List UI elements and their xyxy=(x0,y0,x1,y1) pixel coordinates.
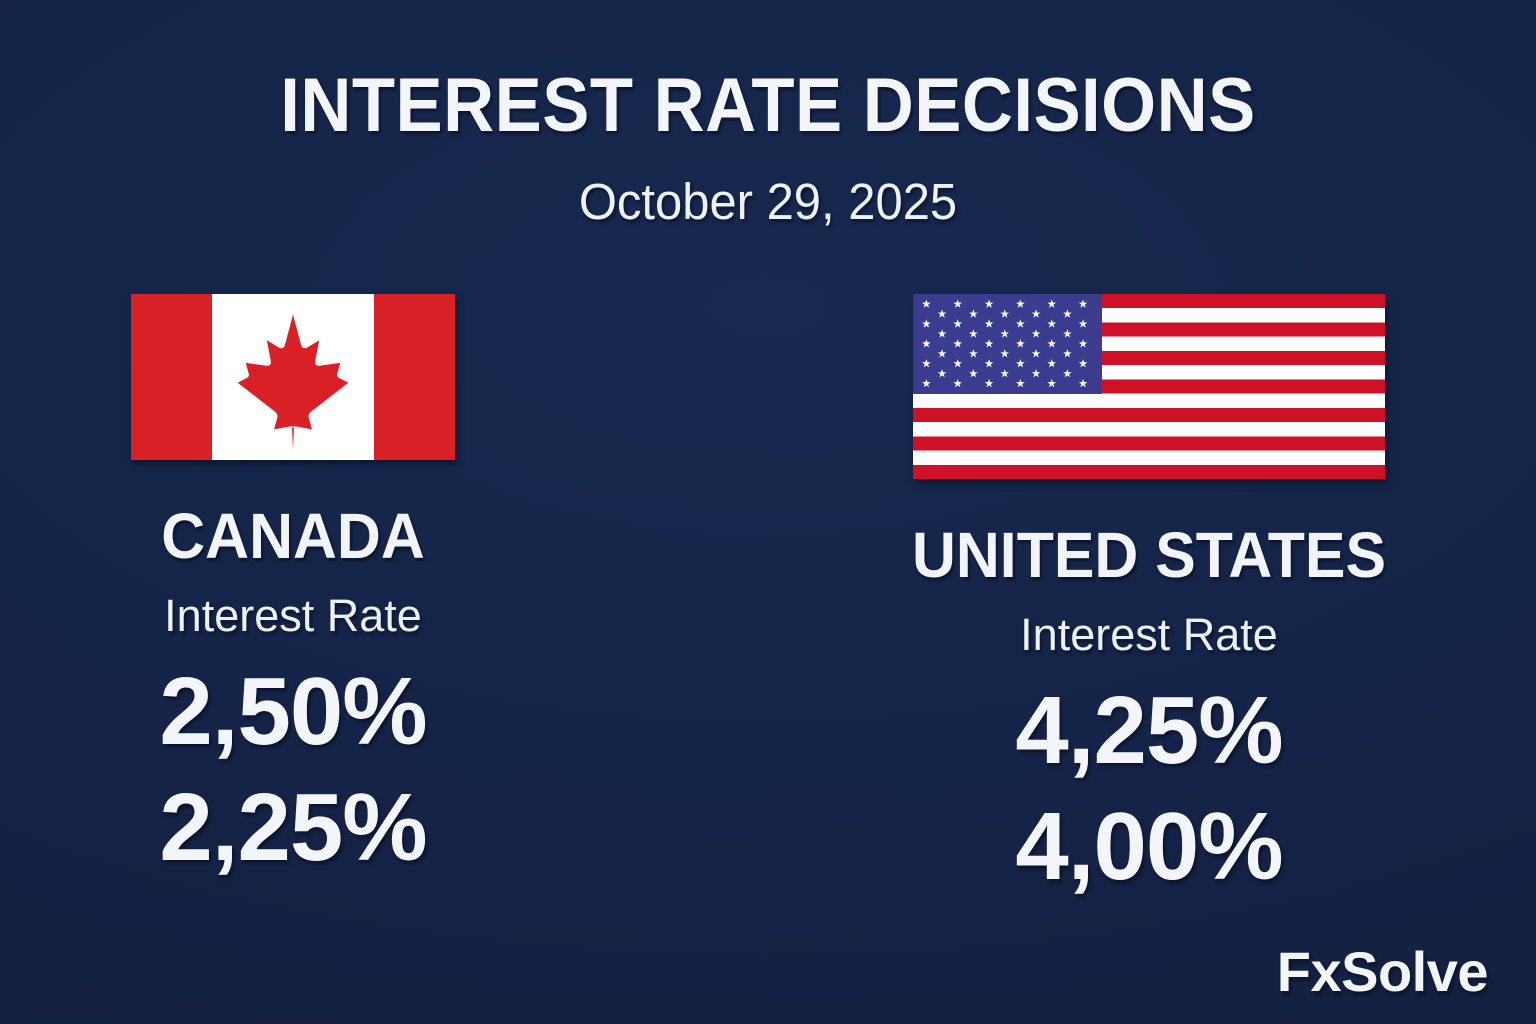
metric-label-usa: Interest Rate xyxy=(862,612,1436,657)
maple-leaf-icon xyxy=(212,300,374,454)
canada-flag-icon xyxy=(131,294,455,460)
rate-current-usa: 4,00% xyxy=(862,795,1436,899)
usa-flag-stars xyxy=(913,294,1102,394)
rate-current-canada: 2,25% xyxy=(56,776,530,880)
country-card-usa: UNITED STATES Interest Rate 4,25% 4,00% xyxy=(862,294,1436,898)
usa-flag-canton xyxy=(913,294,1102,394)
usa-flag-icon xyxy=(913,294,1385,479)
country-name-canada: CANADA xyxy=(68,504,518,568)
metric-label-canada: Interest Rate xyxy=(56,593,530,638)
country-name-usa: UNITED STATES xyxy=(876,523,1421,587)
rate-previous-canada: 2,50% xyxy=(56,660,530,764)
header-date: October 29, 2025 xyxy=(31,176,1506,227)
page-title: INTEREST RATE DECISIONS xyxy=(54,68,1482,144)
rate-previous-usa: 4,25% xyxy=(862,679,1436,783)
infographic-canvas: INTEREST RATE DECISIONS October 29, 2025… xyxy=(0,0,1536,1024)
brand-logo: FxSolve xyxy=(1277,944,1488,1000)
country-card-canada: CANADA Interest Rate 2,50% 2,25% xyxy=(56,294,530,879)
